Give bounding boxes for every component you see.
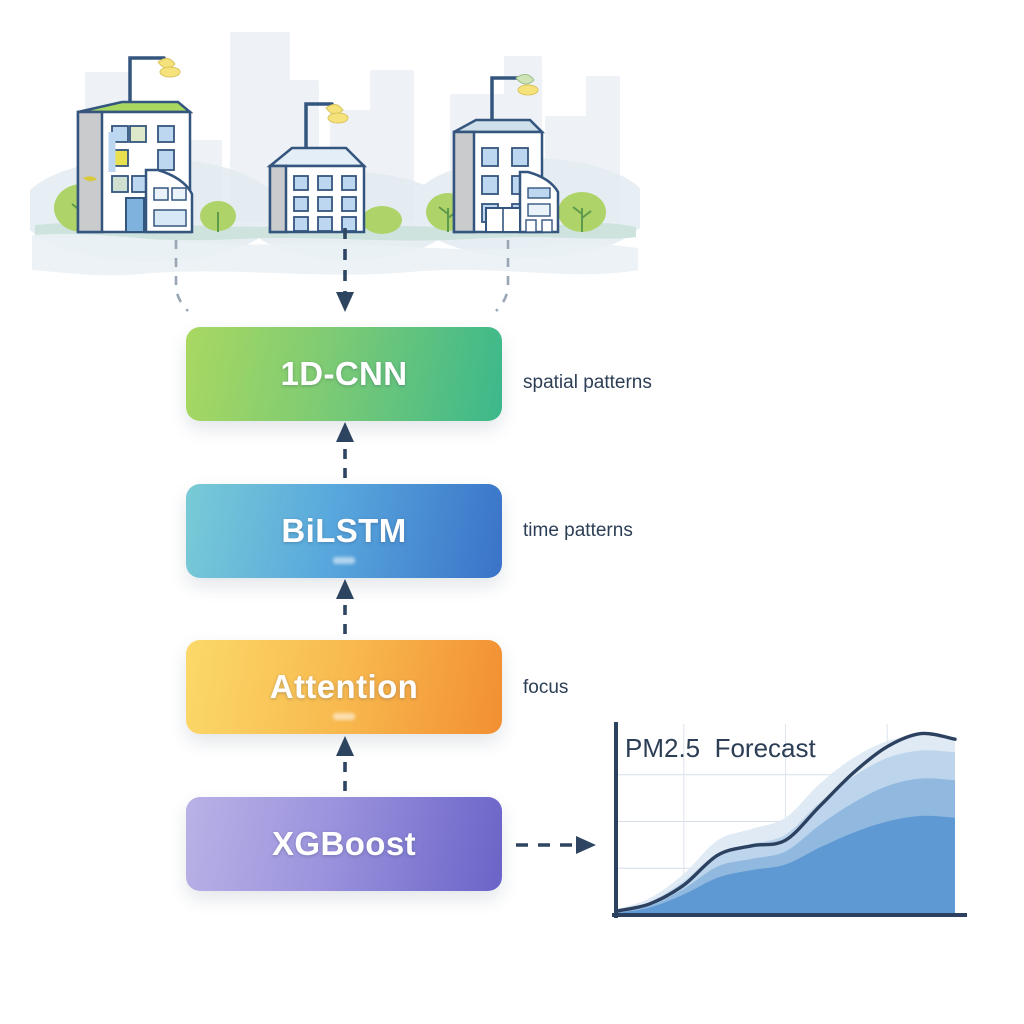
pipeline-node-xgboost[interactable]: XGBoost [186,797,502,891]
diagram-canvas: 1D-CNN spatial patterns BiLSTM time patt… [0,0,1024,1024]
pipeline-node-bilstm[interactable]: BiLSTM [186,484,502,578]
node-label: 1D-CNN [280,355,407,393]
node-label: XGBoost [272,825,416,863]
tree [558,192,606,232]
blur-artifact [333,557,355,564]
xgboost-to-forecast-arrow [516,836,596,854]
caption-time-patterns: time patterns [523,520,633,542]
node-label: Attention [270,668,418,706]
smart-city-illustration [30,20,640,300]
attention-to-bilstm-arrow [336,579,354,634]
blur-artifact [333,713,355,720]
xgboost-to-attention-arrow [336,736,354,791]
chart-title: PM2.5 Forecast [625,733,816,764]
caption-spatial-patterns: spatial patterns [523,372,652,394]
caption-focus: focus [523,677,568,699]
node-label: BiLSTM [281,512,406,550]
pipeline-node-attention[interactable]: Attention [186,640,502,734]
bilstm-to-cnn-arrow [336,422,354,478]
pipeline-node-1d-cnn[interactable]: 1D-CNN [186,327,502,421]
